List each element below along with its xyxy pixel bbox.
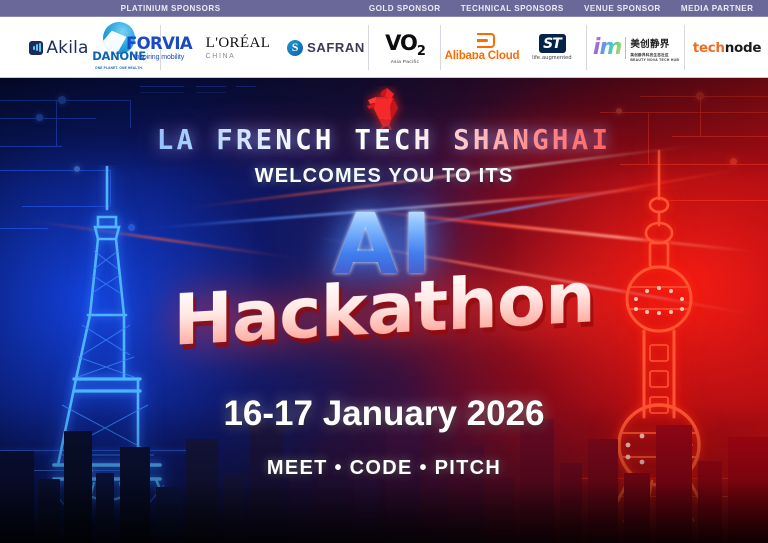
beautynova-divider <box>625 37 626 59</box>
akila-wordmark: Akila <box>46 38 88 58</box>
logo-divider <box>368 25 369 70</box>
alibaba-cloud-mark-icon <box>469 33 495 48</box>
safran-wordmark: SAFRAN <box>307 40 365 55</box>
beautynova-im-icon: im <box>593 35 621 60</box>
logo-divider <box>684 25 685 70</box>
sponsor-logo-technode[interactable]: technode <box>688 17 766 78</box>
sponsor-category-bar: PLATINIUM SPONSORS GOLD SPONSOR TECHNICA… <box>0 0 768 17</box>
sponsor-logo-stmicroelectronics[interactable]: ST life.augmented <box>520 17 584 78</box>
forvia-tagline: Inspiring mobility <box>126 54 192 61</box>
technode-wordmark-a: tech <box>693 40 725 56</box>
beautynova-name-cn: 美创静界 <box>630 39 669 50</box>
forvia-wordmark: FORVIA <box>126 34 192 53</box>
poster-text-stack: LA FRENCH TECH SHANGHAI WELCOMES YOU TO … <box>0 78 768 543</box>
welcome-line: WELCOMES YOU TO ITS <box>0 165 768 188</box>
vo2-wordmark: VO <box>385 31 417 55</box>
sponsor-logo-vo2[interactable]: VO2 Asia Pacific <box>374 17 436 78</box>
st-tagline: life.augmented <box>532 55 572 61</box>
logo-divider <box>440 25 441 70</box>
loreal-wordmark: L'ORÉAL <box>206 35 271 52</box>
sponsor-category-media: MEDIA PARTNER <box>681 3 754 13</box>
sponsor-logo-forvia[interactable]: FORVIA Inspiring mobility <box>118 17 200 78</box>
event-tagline: MEET • CODE • PITCH <box>0 457 768 480</box>
sponsor-logo-beauty-nova[interactable]: im 美创静界 美创静界科技生态社区 BEAUTY NOVA TECH HUB <box>590 17 682 78</box>
vo2-subscript: 2 <box>417 45 425 60</box>
alibaba-wordmark: Alibaba Cloud <box>445 50 520 62</box>
sponsor-category-gold: GOLD SPONSOR <box>369 3 441 13</box>
sponsor-logo-loreal[interactable]: L'ORÉAL CHINA <box>202 17 274 78</box>
sponsor-logo-row: Akila DANONE ONE PLANET. ONE HEALTH. FOR… <box>0 17 768 78</box>
loreal-region: CHINA <box>206 53 271 60</box>
sponsor-category-platinium: PLATINIUM SPONSORS <box>121 3 221 13</box>
hackathon-poster: PLATINIUM SPONSORS GOLD SPONSOR TECHNICA… <box>0 0 768 543</box>
organizer-title: LA FRENCH TECH SHANGHAI <box>0 124 768 156</box>
akila-mark-icon <box>29 41 43 55</box>
st-mark-icon: ST <box>539 34 566 53</box>
technode-wordmark-b: node <box>725 40 762 56</box>
beautynova-name-en: BEAUTY NOVA TECH HUB <box>630 58 679 62</box>
sponsor-logo-alibaba-cloud[interactable]: Alibaba Cloud <box>444 17 520 78</box>
sponsor-category-venue: VENUE SPONSOR <box>584 3 661 13</box>
logo-divider <box>586 25 587 70</box>
sponsor-logo-safran[interactable]: S SAFRAN <box>278 17 374 78</box>
sponsor-category-technical: TECHNICAL SPONSORS <box>461 3 564 13</box>
event-date: 16-17 January 2026 <box>0 394 768 434</box>
poster-artwork: LA FRENCH TECH SHANGHAI WELCOMES YOU TO … <box>0 78 768 543</box>
safran-mark-icon: S <box>287 40 303 56</box>
vo2-region: Asia Pacific <box>385 59 425 64</box>
